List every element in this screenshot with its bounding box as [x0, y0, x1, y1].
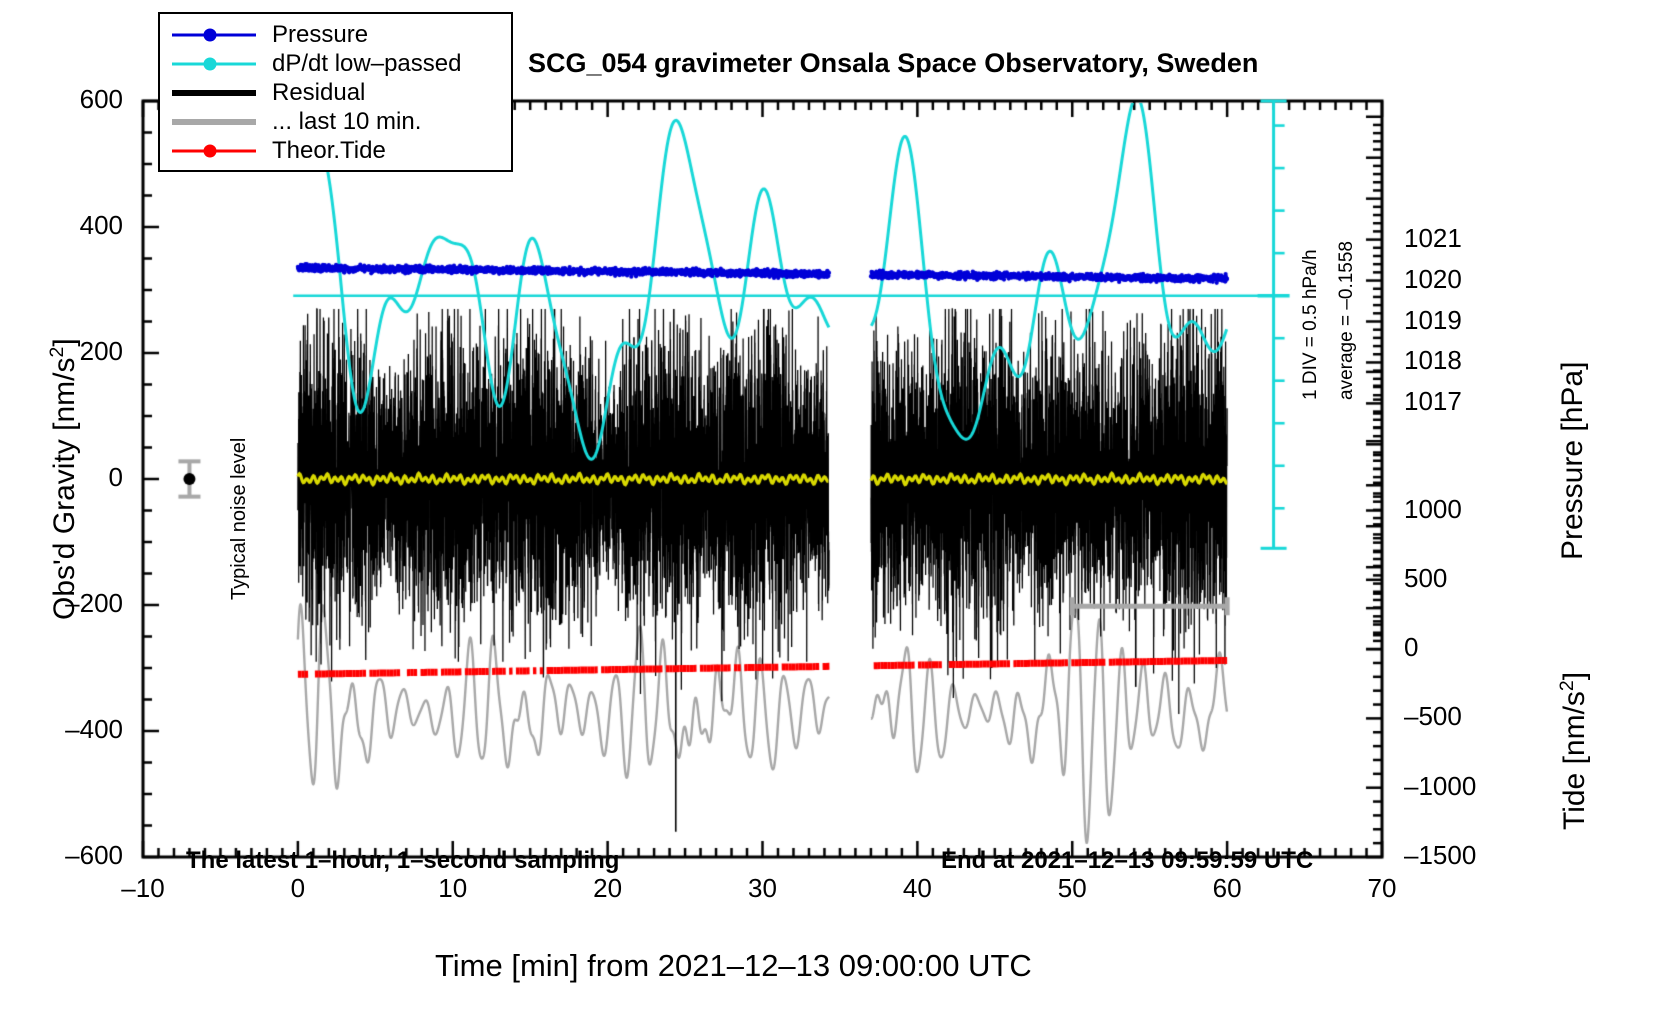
legend-line-icon	[172, 119, 256, 125]
y-tick-gravity: 400	[0, 210, 123, 241]
chart-figure: SCG_054 gravimeter Onsala Space Observat…	[0, 0, 1660, 1020]
y-tick-gravity: –400	[0, 714, 123, 745]
y-axis-title-tide: Tide [nm/s2]	[1556, 672, 1592, 830]
legend-item-4[interactable]: Theor.Tide	[172, 136, 511, 165]
x-tick: 0	[238, 873, 358, 904]
y-tick-tide: –1000	[1404, 771, 1476, 802]
annotation-sampling-note: The latest 1–hour, 1–second sampling	[186, 847, 619, 875]
legend-item-label: Theor.Tide	[272, 139, 386, 163]
chart-legend: PressuredP/dt low–passedResidual... last…	[158, 12, 513, 172]
y-tick-pressure: 1017	[1404, 386, 1462, 417]
legend-swatch	[172, 54, 256, 74]
legend-swatch	[172, 112, 256, 132]
y-tick-tide: 500	[1404, 563, 1447, 594]
legend-swatch	[172, 83, 256, 103]
y-tick-gravity: 0	[0, 462, 123, 493]
y-tick-tide: 1000	[1404, 494, 1462, 525]
y-tick-gravity: –600	[0, 840, 123, 871]
x-tick: 50	[1012, 873, 1132, 904]
legend-item-3[interactable]: ... last 10 min.	[172, 107, 511, 136]
legend-item-1[interactable]: dP/dt low–passed	[172, 49, 511, 78]
x-axis-title: Time [min] from 2021–12–13 09:00:00 UTC	[435, 948, 1032, 984]
x-tick: 70	[1322, 873, 1442, 904]
y-tick-pressure: 1019	[1404, 305, 1462, 336]
y-tick-tide: –500	[1404, 701, 1462, 732]
y-tick-pressure: 1018	[1404, 345, 1462, 376]
legend-swatch	[172, 141, 256, 161]
legend-marker-dot-icon	[204, 57, 217, 70]
annotation-noise-level: Typical noise level	[228, 438, 251, 600]
annotation-div-scale: 1 DIV = 0.5 hPa/h	[1300, 249, 1322, 400]
annotation-average: average = –0.1558	[1336, 241, 1358, 400]
legend-marker-dot-icon	[204, 28, 217, 41]
legend-item-label: dP/dt low–passed	[272, 52, 461, 76]
x-tick: 60	[1167, 873, 1287, 904]
legend-item-0[interactable]: Pressure	[172, 20, 511, 49]
legend-swatch	[172, 25, 256, 45]
legend-marker-dot-icon	[204, 144, 217, 157]
x-tick: 30	[703, 873, 823, 904]
legend-item-label: Residual	[272, 81, 365, 105]
y-tick-gravity: 200	[0, 336, 123, 367]
x-tick: 40	[857, 873, 977, 904]
legend-item-label: Pressure	[272, 23, 368, 47]
legend-line-icon	[172, 90, 256, 96]
x-tick: 20	[548, 873, 668, 904]
x-tick: 10	[393, 873, 513, 904]
y-tick-tide: 0	[1404, 632, 1418, 663]
chart-title: SCG_054 gravimeter Onsala Space Observat…	[528, 48, 1258, 79]
y-tick-pressure: 1020	[1404, 264, 1462, 295]
legend-item-2[interactable]: Residual	[172, 78, 511, 107]
legend-item-label: ... last 10 min.	[272, 110, 421, 134]
y-tick-gravity: –200	[0, 588, 123, 619]
y-tick-tide: –1500	[1404, 840, 1476, 871]
x-tick: –10	[83, 873, 203, 904]
y-tick-gravity: 600	[0, 84, 123, 115]
y-tick-pressure: 1021	[1404, 223, 1462, 254]
annotation-end-time: End at 2021–12–13 09:59:59 UTC	[941, 847, 1313, 875]
y-axis-title-pressure: Pressure [hPa]	[1556, 362, 1590, 560]
